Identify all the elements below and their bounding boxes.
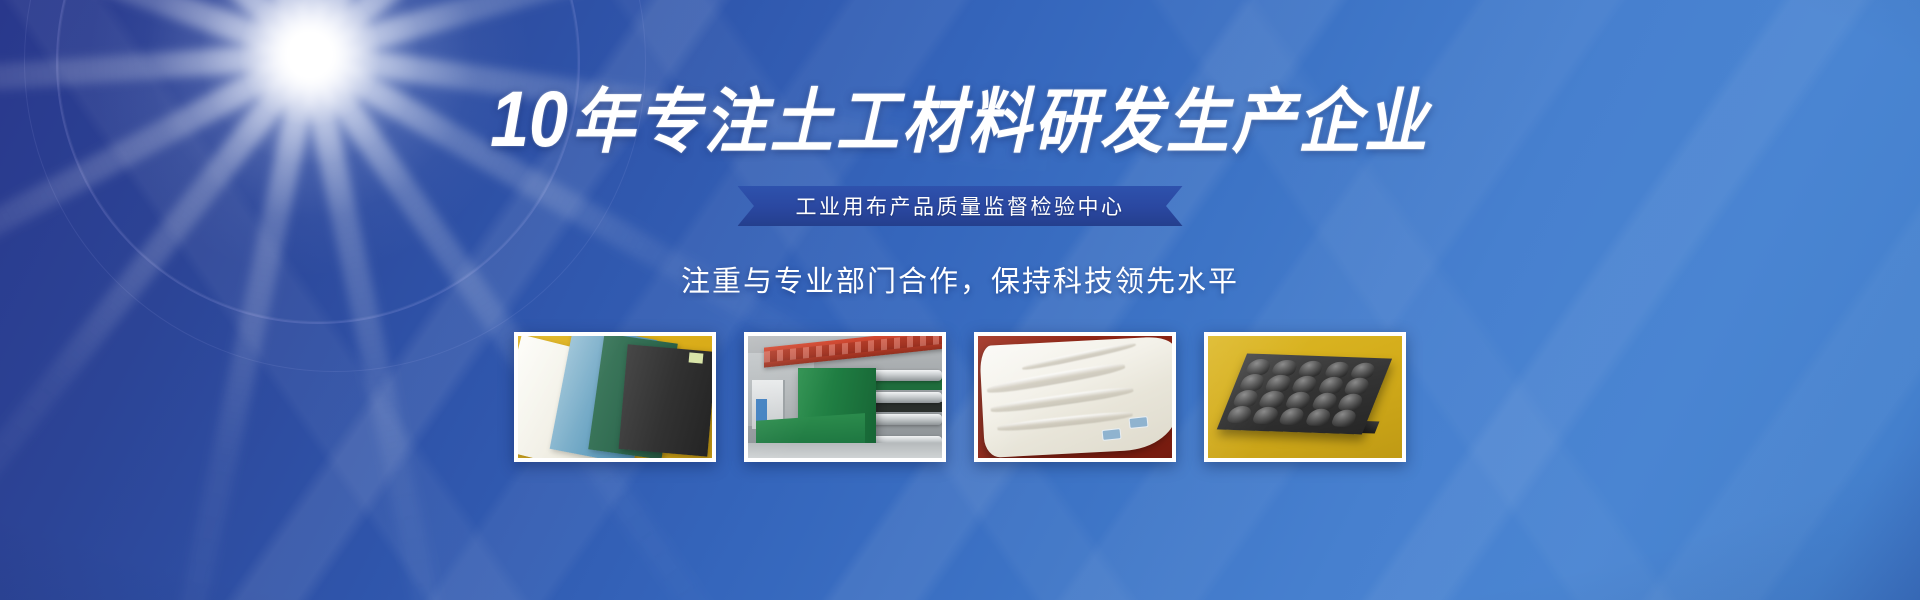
product-photo-production-line[interactable] (744, 332, 946, 462)
product-photo-geotextile-fabric[interactable] (974, 332, 1176, 462)
headline-years-number: 10 (490, 75, 572, 162)
ribbon-label: 工业用布产品质量监督检验中心 (796, 191, 1125, 221)
drainage-dimple (1278, 407, 1306, 424)
drainage-dimple (1226, 405, 1254, 422)
product-photo-drainage-board[interactable] (1204, 332, 1406, 462)
drainage-dimple (1271, 359, 1299, 376)
drainage-dimple (1311, 392, 1339, 409)
banner-content: 10年专注土工材料研发生产企业 工业用布产品质量监督检验中心 注重与专业部门合作… (0, 0, 1920, 600)
ribbon-shape: 工业用布产品质量监督检验中心 (738, 186, 1183, 226)
drainage-dimple (1349, 361, 1377, 378)
drainage-dimple (1323, 360, 1351, 377)
drainage-dimple (1284, 391, 1312, 408)
drainage-dimple (1245, 358, 1273, 375)
headline-main-text: 年专注土工材料研发生产企业 (572, 83, 1430, 161)
drainage-dimple (1317, 376, 1345, 393)
drainage-dimple (1343, 377, 1371, 394)
product-photo-geomembrane-sheets[interactable] (514, 332, 716, 462)
drainage-dimple (1258, 390, 1286, 407)
drainage-dimple (1265, 374, 1293, 391)
product-photo-gallery (514, 332, 1406, 462)
drainage-dimple (1337, 393, 1365, 410)
drainage-dimple (1252, 406, 1280, 423)
drainage-dimple (1232, 389, 1260, 406)
ribbon-banner: 工业用布产品质量监督检验中心 (738, 186, 1183, 226)
tagline: 注重与专业部门合作，保持科技领先水平 (681, 258, 1239, 300)
drainage-dimple (1291, 375, 1319, 392)
promo-banner: 10年专注土工材料研发生产企业 工业用布产品质量监督检验中心 注重与专业部门合作… (0, 0, 1920, 600)
headline: 10年专注土工材料研发生产企业 (490, 80, 1430, 158)
drainage-dimple (1304, 408, 1332, 425)
drainage-dimple (1297, 360, 1325, 377)
drainage-dimple (1238, 374, 1266, 391)
drainage-dimple (1330, 409, 1358, 426)
